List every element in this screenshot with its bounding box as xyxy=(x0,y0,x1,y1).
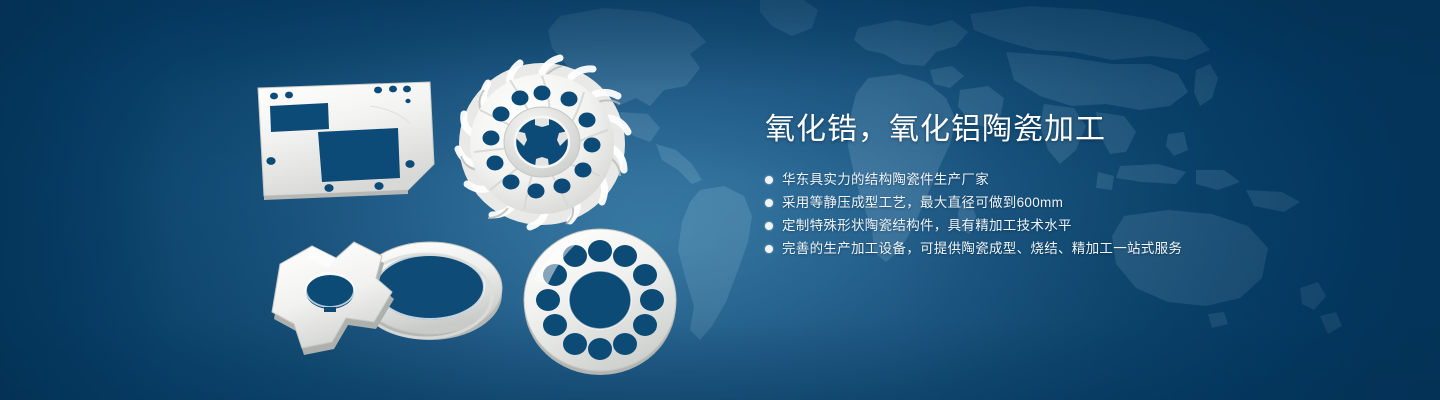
ceramic-cross-plate-and-ring xyxy=(250,226,520,366)
feature-bullet-item: 华东具实力的结构陶瓷件生产厂家 xyxy=(765,168,1325,191)
bullet-dot-icon xyxy=(765,245,773,253)
bullet-dot-icon xyxy=(765,176,773,184)
feature-bullet-item: 定制特殊形状陶瓷结构件，具有精加工技术水平 xyxy=(765,214,1325,237)
banner-headline: 氧化锆，氧化铝陶瓷加工 xyxy=(765,112,1325,148)
bullet-dot-icon xyxy=(765,222,773,230)
feature-bullet-text: 华东具实力的结构陶瓷件生产厂家 xyxy=(782,168,989,191)
feature-bullet-item: 完善的生产加工设备，可提供陶瓷成型、烧结、精加工一站式服务 xyxy=(765,237,1325,260)
feature-bullet-item: 采用等静压成型工艺，最大直径可做到600mm xyxy=(765,191,1325,214)
ceramic-impeller xyxy=(452,52,632,232)
ceramic-flat-plate xyxy=(252,78,442,202)
feature-bullet-text: 定制特殊形状陶瓷结构件，具有精加工技术水平 xyxy=(782,214,1072,237)
bullet-dot-icon xyxy=(765,199,773,207)
ceramic-perforated-disc xyxy=(512,222,688,378)
banner-copy: 氧化锆，氧化铝陶瓷加工 华东具实力的结构陶瓷件生产厂家 采用等静压成型工艺，最大… xyxy=(765,112,1325,260)
feature-bullet-list: 华东具实力的结构陶瓷件生产厂家 采用等静压成型工艺，最大直径可做到600mm 定… xyxy=(765,168,1325,260)
feature-bullet-text: 完善的生产加工设备，可提供陶瓷成型、烧结、精加工一站式服务 xyxy=(782,237,1182,260)
hero-banner: 氧化锆，氧化铝陶瓷加工 华东具实力的结构陶瓷件生产厂家 采用等静压成型工艺，最大… xyxy=(0,0,1440,400)
feature-bullet-text: 采用等静压成型工艺，最大直径可做到600mm xyxy=(782,191,1063,214)
